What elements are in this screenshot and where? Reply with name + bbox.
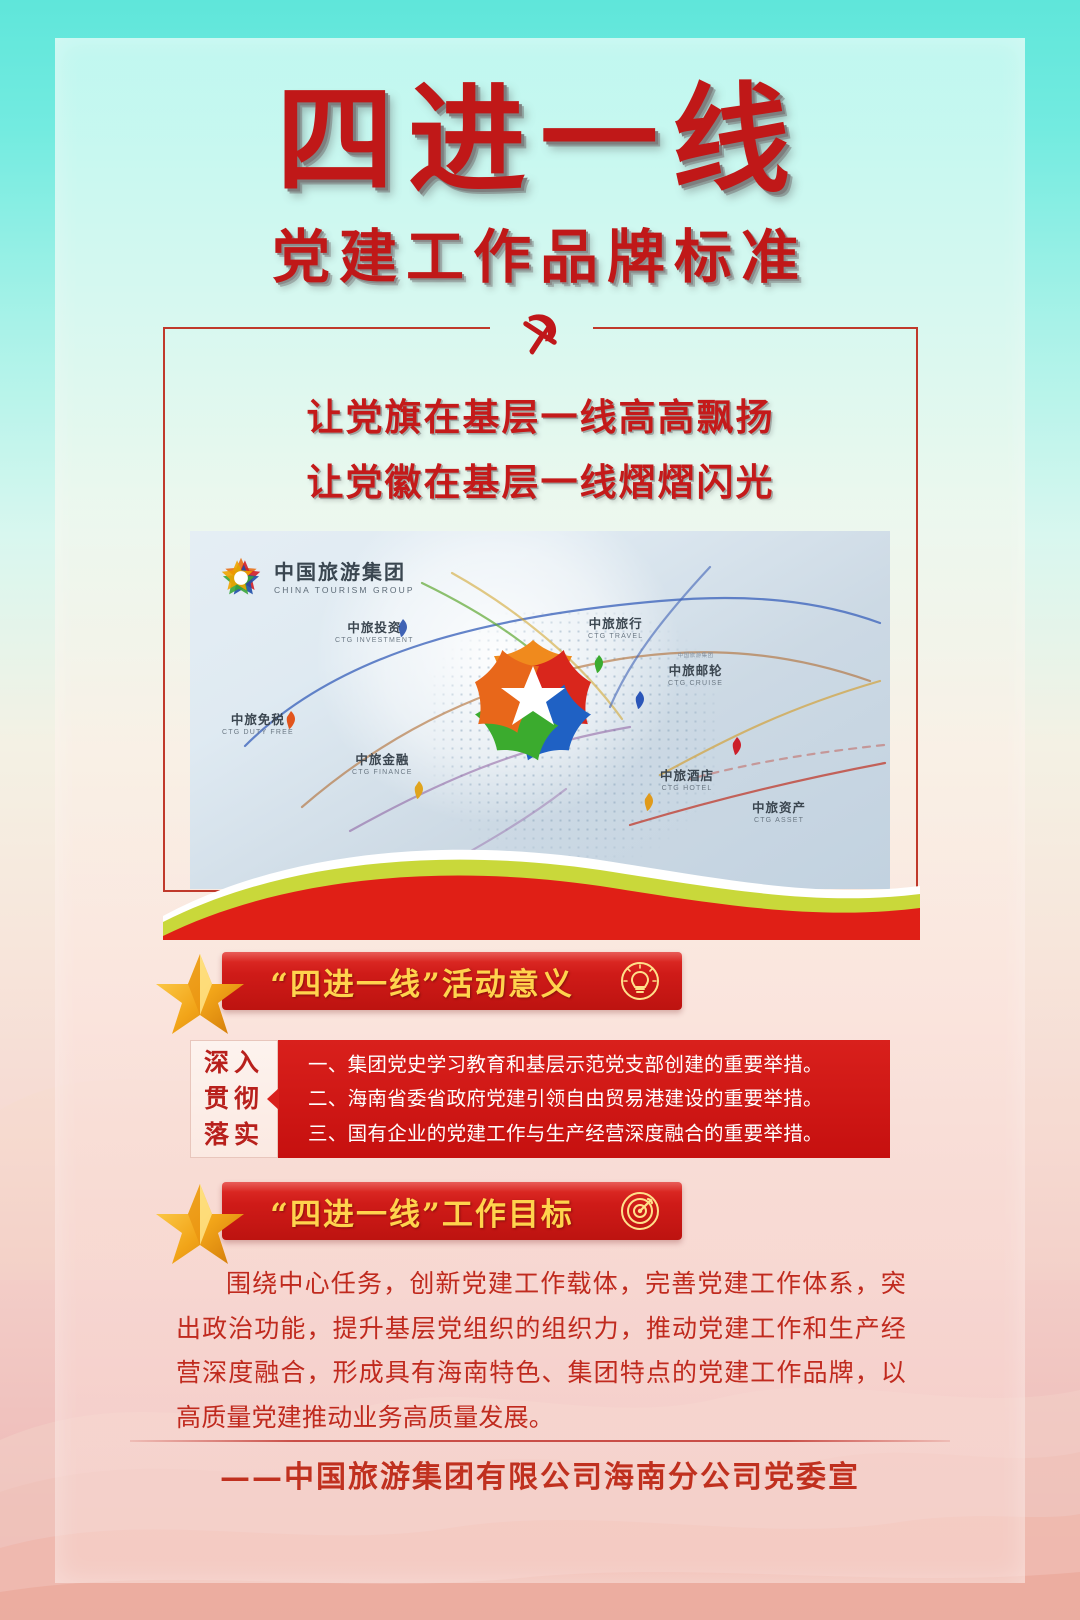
lightbulb-icon [620, 961, 660, 1001]
brand-name-en: CHINA TOURISM GROUP [274, 585, 415, 595]
section-banner-2: “四进一线”工作目标 [222, 1182, 682, 1244]
list-item: 一、集团党史学习教育和基层示范党支部创建的重要举措。 [308, 1049, 874, 1081]
pin-cruise-icon [633, 691, 647, 709]
unit-en: CTG INVESTMENT [335, 637, 414, 644]
unit-cn: 中旅投资 [335, 617, 414, 636]
unit-en: CTG DUTY FREE [222, 729, 294, 736]
unit-label-investment: 中旅投资 CTG INVESTMENT [335, 617, 414, 644]
slogan-block: 让党旗在基层一线高高飘扬 让党徽在基层一线熠熠闪光 [163, 385, 918, 515]
section-activity-meaning: “四进一线”活动意义 [0, 952, 1080, 1014]
section-title-2: “四进一线”工作目标 [222, 1182, 622, 1240]
meaning-list-block: 深入 贯彻 落实 一、集团党史学习教育和基层示范党支部创建的重要举措。 二、海南… [190, 1040, 890, 1158]
brand-name-cn: 中国旅游集团 [274, 561, 415, 583]
slogan-line-2: 让党徽在基层一线熠熠闪光 [163, 450, 918, 515]
poster-root: 四进一线 党建工作品牌标准 让党旗在基层一线高高飘扬 让党徽在基层一线熠熠闪光 [0, 0, 1080, 1620]
keyword-line-2: 贯彻 [204, 1081, 264, 1117]
unit-en: CTG FINANCE [352, 769, 413, 776]
pin-travel-icon [592, 655, 606, 673]
ctg-brand-lockup: 中国旅游集团 CHINA TOURISM GROUP [218, 555, 415, 601]
unit-cn: 中旅酒店 [660, 765, 714, 784]
pin-asset-icon [730, 737, 744, 755]
unit-cn: 中旅金融 [352, 749, 413, 768]
section-work-goal: “四进一线”工作目标 [0, 1182, 1080, 1244]
pin-finance-icon [412, 781, 426, 799]
page-subtitle: 党建工作品牌标准 [0, 210, 1080, 294]
goal-paragraph: 围绕中心任务，创新党建工作载体，完善党建工作体系，突出政治功能，提升基层党组织的… [176, 1262, 906, 1440]
ctg-five-star-ring-icon [458, 626, 608, 776]
unit-en: CTG CRUISE [668, 680, 723, 687]
unit-en: CTG HOTEL [660, 785, 714, 792]
section-banner-1: “四进一线”活动意义 [222, 952, 682, 1014]
ctg-star-flower-logo-icon [218, 555, 264, 601]
meaning-items: 一、集团党史学习教育和基层示范党支部创建的重要举措。 二、海南省委省政府党建引领… [278, 1040, 890, 1158]
poster-header: 四进一线 党建工作品牌标准 [0, 0, 1080, 294]
keyword-badge: 深入 贯彻 落实 [190, 1040, 278, 1158]
unit-cn: 中旅资产 [752, 797, 806, 816]
unit-cn: 中旅邮轮 [668, 660, 723, 679]
keyword-line-3: 落实 [204, 1117, 264, 1153]
unit-cn: 中旅旅行 [588, 613, 643, 632]
pin-hotel-icon [642, 793, 656, 811]
target-dart-icon [620, 1191, 660, 1231]
unit-label-cruise: 中国旅游集团 中旅邮轮 CTG CRUISE [668, 651, 723, 687]
slogan-line-1: 让党旗在基层一线高高飘扬 [163, 385, 918, 450]
unit-label-dutyfree: 中旅免税 CTG DUTY FREE [222, 709, 294, 736]
unit-label-finance: 中旅金融 CTG FINANCE [352, 749, 413, 776]
unit-label-hotel: 中旅酒店 CTG HOTEL [660, 765, 714, 792]
list-item: 二、海南省委省政府党建引领自由贸易港建设的重要举措。 [308, 1083, 874, 1115]
unit-label-travel: 中旅旅行 CTG TRAVEL [588, 613, 643, 640]
footer-divider [130, 1440, 950, 1442]
unit-tag: 中国旅游集团 [668, 651, 723, 659]
unit-cn: 中旅免税 [222, 709, 294, 728]
footer-signature: ——中国旅游集团有限公司海南分公司党委宣 [0, 1452, 1080, 1496]
list-item: 三、国有企业的党建工作与生产经营深度融合的重要举措。 [308, 1118, 874, 1150]
page-title: 四进一线 [0, 78, 1080, 202]
keyword-line-1: 深入 [204, 1045, 264, 1081]
decorative-ribbon-wave [163, 820, 920, 940]
unit-en: CTG TRAVEL [588, 633, 643, 640]
section-title-1: “四进一线”活动意义 [222, 952, 622, 1010]
